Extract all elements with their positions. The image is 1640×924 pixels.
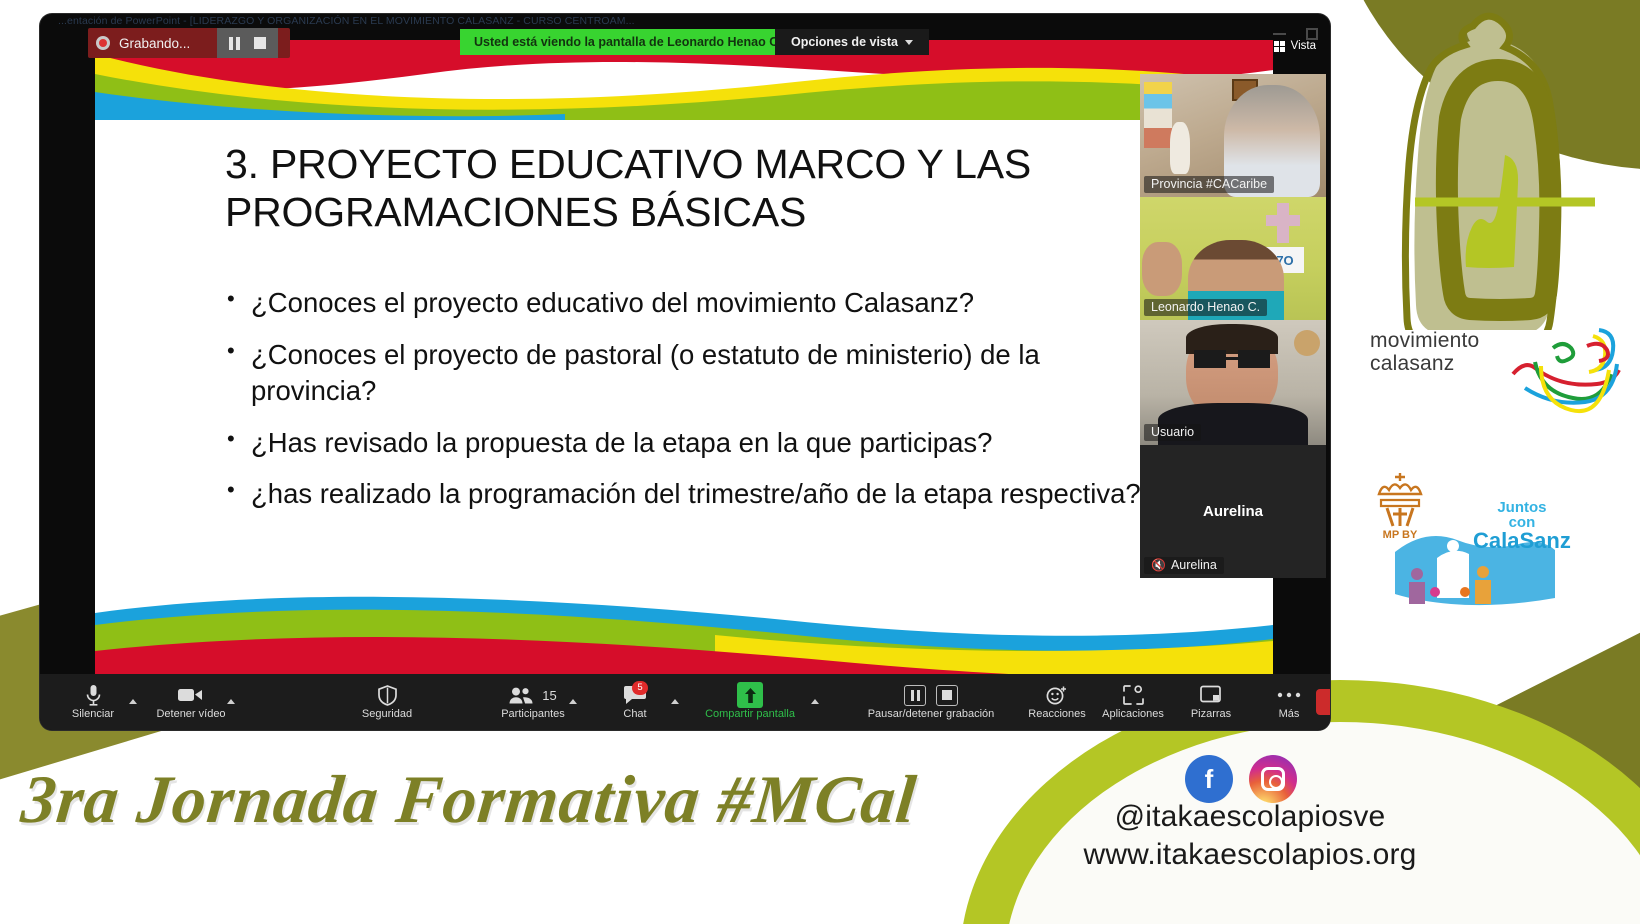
calasanz-figure-logo <box>1355 0 1640 330</box>
participant-name: Aurelina <box>1171 558 1217 572</box>
participants-icon: 15 <box>509 684 556 706</box>
screenshot-root: 3. PROYECTO EDUCATIVO MARCO Y LAS PROGRA… <box>0 0 1640 924</box>
mute-button[interactable]: Silenciar <box>66 684 120 720</box>
slide-title: 3. PROYECTO EDUCATIVO MARCO Y LAS PROGRA… <box>225 140 1125 237</box>
slide-bullet: ¿Conoces el proyecto educativo del movim… <box>225 285 1155 322</box>
window-controls[interactable] <box>1273 28 1318 40</box>
apps-label: Aplicaciones <box>1102 708 1164 720</box>
reactions-label: Reacciones <box>1028 708 1085 720</box>
juntos-line-3: CalaSanz <box>1473 530 1571 552</box>
participant-name-badge: Usuario <box>1144 424 1201 441</box>
juntos-con-calasanz-wordmark: Juntos con CalaSanz <box>1473 500 1571 552</box>
slide-bullet: ¿has realizado la programación del trime… <box>225 476 1155 513</box>
slide-bullet-list: ¿Conoces el proyecto educativo del movim… <box>225 285 1155 528</box>
share-screen-label: Compartir pantalla <box>705 708 795 720</box>
participant-video-strip[interactable]: Provincia #CACaribe 7O Leonardo Henao C.… <box>1140 74 1326 577</box>
zoom-toolbar[interactable]: Silenciar Detener vídeo Seguridad 15 <box>40 674 1330 730</box>
shared-screen-content: 3. PROYECTO EDUCATIVO MARCO Y LAS PROGRA… <box>95 40 1273 695</box>
chat-icon: 5 <box>624 684 646 706</box>
participant-name: Usuario <box>1151 425 1194 439</box>
calasanz-boat-logo <box>1507 322 1627 432</box>
whiteboard-icon <box>1200 684 1222 706</box>
pause-recording-icon[interactable] <box>229 37 240 50</box>
share-caret[interactable] <box>802 674 828 730</box>
more-label: Más <box>1279 708 1300 720</box>
stop-video-button[interactable]: Detener vídeo <box>164 684 218 720</box>
participant-name: Leonardo Henao C. <box>1151 300 1260 314</box>
view-mode-button[interactable]: Vista <box>1274 40 1316 52</box>
participant-name-badge: Leonardo Henao C. <box>1144 299 1267 316</box>
reactions-button[interactable]: Reacciones <box>1030 684 1084 720</box>
recording-controls-button[interactable]: Pausar/detener grabación <box>856 684 1006 720</box>
chat-caret[interactable] <box>662 674 688 730</box>
facebook-icon[interactable]: f <box>1185 755 1233 803</box>
more-icon <box>1276 684 1302 706</box>
sharing-banner: Usted está viendo la pantalla de Leonard… <box>460 29 796 55</box>
participants-label: Participantes <box>501 708 565 720</box>
wordmark-line-2: calasanz <box>1370 353 1520 376</box>
microphone-icon <box>86 684 101 706</box>
participant-tile[interactable]: Usuario <box>1140 320 1326 445</box>
instagram-icon[interactable] <box>1249 755 1297 803</box>
participants-caret[interactable] <box>560 674 586 730</box>
camera-icon <box>178 684 204 706</box>
whiteboard-label: Pizarras <box>1191 708 1231 720</box>
participant-name-badge: 🔇 Aurelina <box>1144 557 1224 574</box>
slide-bullet: ¿Conoces el proyecto de pastoral (o esta… <box>225 337 1155 410</box>
recording-indicator: Grabando... <box>88 28 290 58</box>
reactions-icon <box>1046 684 1068 706</box>
chat-label: Chat <box>623 708 646 720</box>
wordmark-line-1: movimiento <box>1370 330 1520 353</box>
record-dot-icon <box>96 36 110 50</box>
powerpoint-title: ...entación de PowerPoint - [LIDERAZGO Y… <box>58 15 635 27</box>
brand-column: movimiento calasanz MP BY <box>1355 0 1640 600</box>
stop-video-label: Detener vídeo <box>156 708 225 720</box>
juntos-line-1: Juntos <box>1473 500 1571 515</box>
more-button[interactable]: Más <box>1262 684 1316 720</box>
chat-button[interactable]: 5 Chat <box>608 684 662 720</box>
record-controls-icon <box>904 684 958 706</box>
movimiento-calasanz-wordmark: movimiento calasanz <box>1370 330 1520 375</box>
minimize-icon[interactable] <box>1273 33 1286 35</box>
participant-tile[interactable]: Aurelina 🔇 Aurelina <box>1140 445 1326 578</box>
participants-button[interactable]: 15 Participantes <box>506 684 560 720</box>
view-mode-label: Vista <box>1291 40 1316 52</box>
social-icons[interactable]: f <box>1185 755 1297 803</box>
chat-unread-badge: 5 <box>632 681 648 695</box>
participant-display-name: Aurelina <box>1203 503 1263 520</box>
recording-controls-label: Pausar/detener grabación <box>868 708 995 720</box>
stop-recording-icon[interactable] <box>254 37 266 49</box>
security-label: Seguridad <box>362 708 412 720</box>
event-title: 3ra Jornada Formativa #MCal <box>18 760 926 839</box>
mute-label: Silenciar <box>72 708 114 720</box>
shield-icon <box>378 684 397 706</box>
apps-icon <box>1123 684 1144 706</box>
security-button[interactable]: Seguridad <box>360 684 414 720</box>
grid-view-icon <box>1274 41 1285 52</box>
view-options-button[interactable]: Opciones de vista <box>775 29 929 55</box>
end-meeting-button[interactable]: Finalizar <box>1316 689 1330 715</box>
share-screen-button[interactable]: Compartir pantalla <box>698 684 802 720</box>
slide-bullet: ¿Has revisado la propuesta de la etapa e… <box>225 425 1155 462</box>
participants-count: 15 <box>542 688 556 703</box>
zoom-meeting-window: 3. PROYECTO EDUCATIVO MARCO Y LAS PROGRA… <box>40 14 1330 730</box>
chevron-down-icon <box>905 40 913 45</box>
participant-tile[interactable]: 7O Leonardo Henao C. <box>1140 197 1326 320</box>
apps-button[interactable]: Aplicaciones <box>1106 684 1160 720</box>
share-screen-icon <box>737 684 763 706</box>
whiteboard-button[interactable]: Pizarras <box>1184 684 1238 720</box>
social-url: www.itakaescolapios.org <box>1000 838 1500 872</box>
audio-options-caret[interactable] <box>120 674 146 730</box>
sharing-banner-label: Usted está viendo la pantalla de Leonard… <box>474 35 782 49</box>
recording-controls[interactable] <box>217 28 278 58</box>
maximize-icon[interactable] <box>1306 28 1318 40</box>
recording-label: Grabando... <box>119 36 190 51</box>
participant-name: Provincia #CACaribe <box>1151 177 1267 191</box>
social-handle: @itakaescolapiosve <box>1000 800 1500 834</box>
view-options-label: Opciones de vista <box>791 35 898 49</box>
participant-name-badge: Provincia #CACaribe <box>1144 176 1274 193</box>
participant-tile[interactable]: Provincia #CACaribe <box>1140 74 1326 197</box>
microphone-muted-icon: 🔇 <box>1151 558 1166 572</box>
video-options-caret[interactable] <box>218 674 244 730</box>
